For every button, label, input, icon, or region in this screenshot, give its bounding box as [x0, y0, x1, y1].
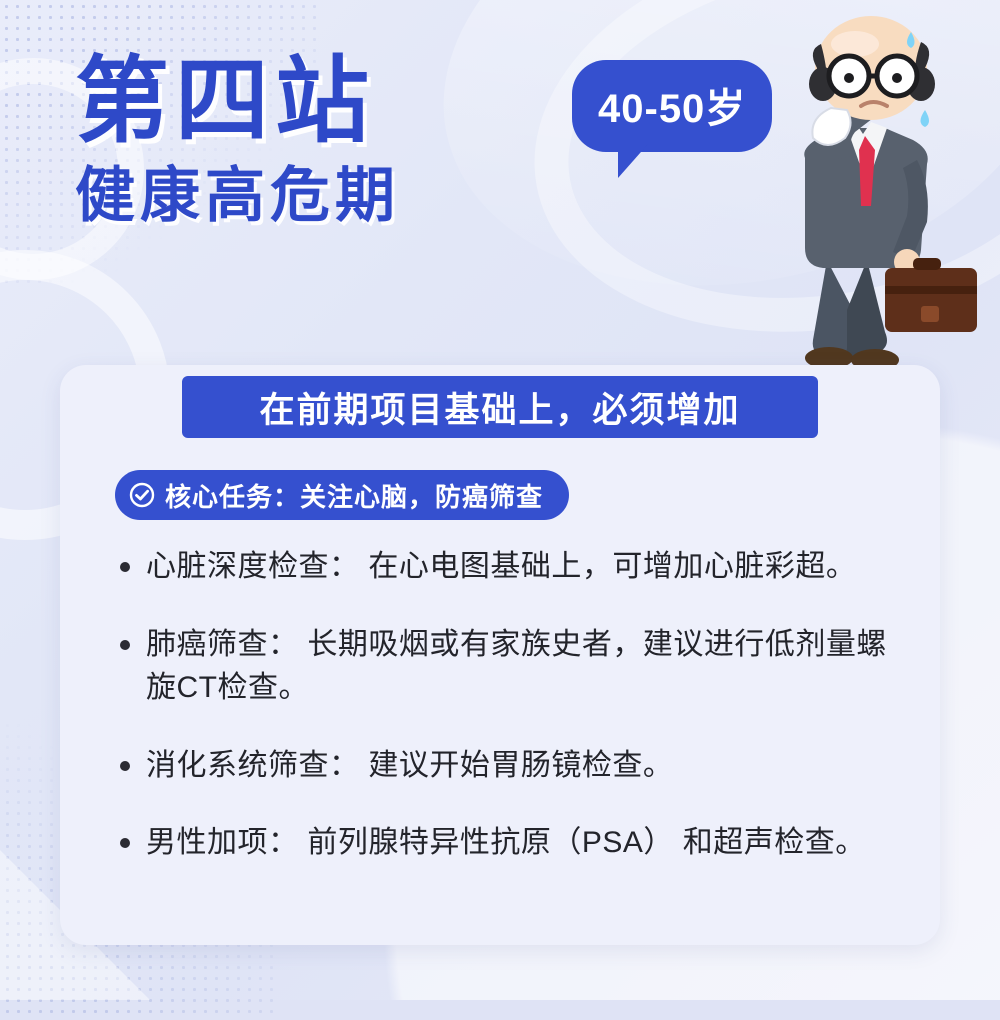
list-item-text: 肺癌筛查： 长期吸烟或有家族史者，建议进行低剂量螺旋CT检查。: [146, 623, 910, 710]
age-range-label: 40-50岁: [598, 87, 746, 131]
title-block: 第四站 健康高危期: [75, 52, 400, 229]
list-item-text: 消化系统筛查： 建议开始胃肠镜检查。: [146, 744, 673, 788]
core-task-pill: 核心任务：关注心脑，防癌筛查: [115, 470, 569, 520]
businessman-illustration: [735, 10, 985, 380]
list-item: 心脏深度检查： 在心电图基础上，可增加心脏彩超。: [120, 545, 910, 589]
businessman-icon: [735, 10, 985, 380]
bullet-icon: [120, 838, 130, 848]
poster-background: 第四站 健康高危期 40-50岁: [0, 0, 1000, 1000]
core-task-label: 核心任务：关注心脑，防癌筛查: [165, 477, 543, 514]
list-item-text: 男性加项： 前列腺特异性抗原（PSA） 和超声检查。: [146, 821, 866, 865]
page-subtitle: 健康高危期: [75, 163, 400, 229]
content-card: 在前期项目基础上，必须增加 核心任务：关注心脑，防癌筛查 心脏深度检查： 在心电…: [60, 365, 940, 945]
check-circle-icon: [129, 482, 155, 508]
list-item-text: 心脏深度检查： 在心电图基础上，可增加心脏彩超。: [146, 545, 856, 589]
page-title: 第四站: [75, 52, 400, 151]
bullet-icon: [120, 640, 130, 650]
list-item: 肺癌筛查： 长期吸烟或有家族史者，建议进行低剂量螺旋CT检查。: [120, 623, 910, 710]
card-banner: 在前期项目基础上，必须增加: [182, 376, 818, 438]
card-banner-label: 在前期项目基础上，必须增加: [259, 382, 740, 433]
list-item: 消化系统筛查： 建议开始胃肠镜检查。: [120, 744, 910, 788]
bullet-icon: [120, 562, 130, 572]
bullet-icon: [120, 761, 130, 771]
checkup-list: 心脏深度检查： 在心电图基础上，可增加心脏彩超。 肺癌筛查： 长期吸烟或有家族史…: [120, 545, 910, 899]
list-item: 男性加项： 前列腺特异性抗原（PSA） 和超声检查。: [120, 821, 910, 865]
